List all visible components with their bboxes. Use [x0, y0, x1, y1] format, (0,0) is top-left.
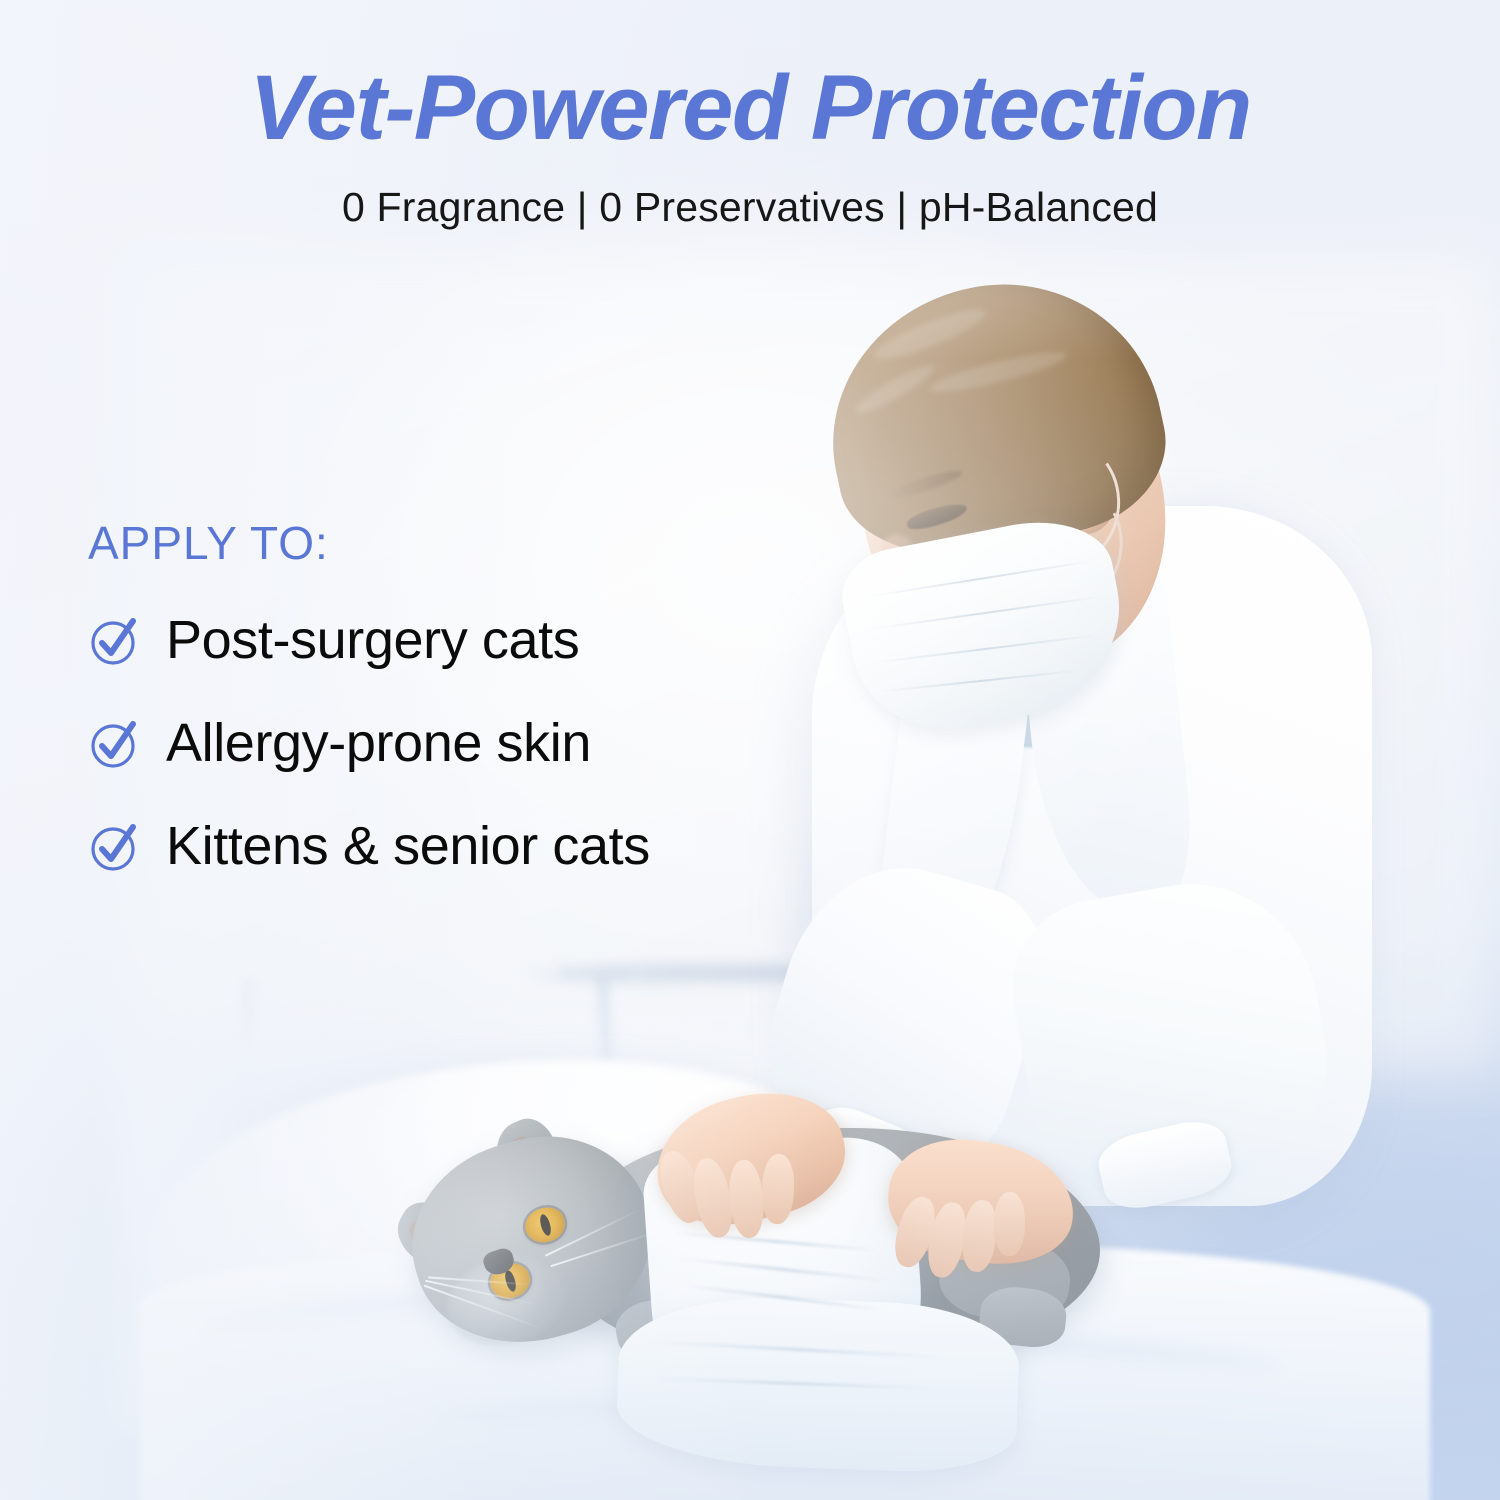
- list-item-label: Kittens & senior cats: [166, 818, 650, 875]
- poster-canvas: Vet-Powered Protection 0 Fragrance | 0 P…: [0, 0, 1500, 1500]
- page-title: Vet-Powered Protection: [0, 62, 1500, 156]
- check-circle-icon: [88, 718, 140, 770]
- list-item: Kittens & senior cats: [88, 818, 868, 875]
- text-overlay: Vet-Powered Protection 0 Fragrance | 0 P…: [0, 0, 1500, 1500]
- apply-to-list: Post-surgery cats Allergy-prone skin: [88, 612, 868, 876]
- apply-to-section: APPLY TO: Post-surgery cats: [88, 516, 868, 876]
- check-circle-icon: [88, 615, 140, 667]
- apply-to-heading: APPLY TO:: [88, 516, 868, 570]
- list-item: Allergy-prone skin: [88, 715, 868, 772]
- list-item: Post-surgery cats: [88, 612, 868, 669]
- list-item-label: Post-surgery cats: [166, 612, 579, 669]
- check-circle-icon: [88, 821, 140, 873]
- page-subtitle: 0 Fragrance | 0 Preservatives | pH-Balan…: [0, 183, 1500, 232]
- list-item-label: Allergy-prone skin: [166, 715, 591, 772]
